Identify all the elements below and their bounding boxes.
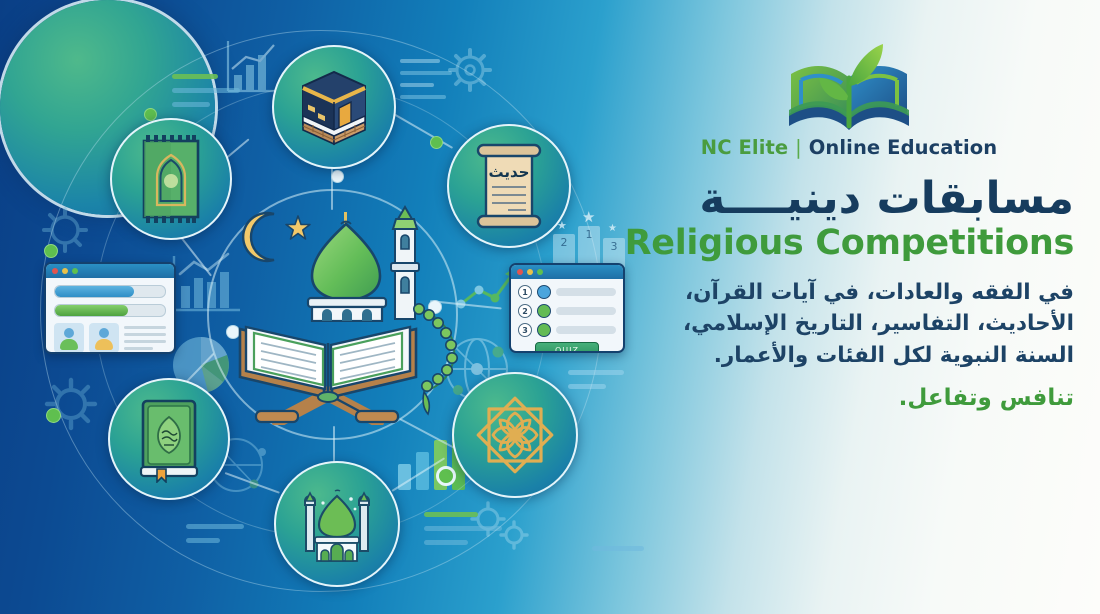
quiz-option-row[interactable]: 1 [518, 285, 616, 299]
quiz-option-number: 3 [518, 323, 532, 337]
connector-node [430, 136, 443, 149]
quiz-option-bullet[interactable] [537, 323, 551, 337]
promotional-banner: حديث [0, 0, 1100, 614]
quiz-window[interactable]: 1 2 3 QUIZ [509, 263, 625, 353]
node-kaaba[interactable] [272, 45, 396, 169]
node-geometric-pattern[interactable] [452, 372, 578, 498]
quiz-option-number: 2 [518, 304, 532, 318]
window-titlebar [511, 265, 623, 279]
node-mosque[interactable] [274, 461, 400, 587]
quiz-option-bullet[interactable] [537, 285, 551, 299]
brand-wordmark: NC Elite | Online Education [701, 136, 997, 159]
window-content: 1 2 3 QUIZ [511, 279, 623, 353]
kaaba-icon [291, 66, 377, 148]
quran-book-icon [131, 395, 207, 483]
star-icon: ★ [582, 210, 595, 225]
brand-name-primary: NC Elite [701, 136, 788, 159]
cta-arabic: تنافس وتفاعل. [624, 385, 1074, 411]
maximize-icon[interactable] [72, 268, 78, 274]
headline-english: Religious Competitions [624, 225, 1074, 262]
progress-bar-blue [54, 285, 166, 298]
window-titlebar [46, 264, 174, 278]
close-icon[interactable] [517, 269, 523, 275]
content-column: NC Elite | Online Education مسابقات ديني… [624, 40, 1074, 411]
star-icon: ★ [557, 220, 567, 231]
quiz-option-text [556, 326, 616, 334]
open-quran-on-rehl-icon [228, 285, 428, 425]
quiz-button[interactable]: QUIZ [535, 342, 599, 353]
progress-bar-green [54, 304, 166, 317]
connector-node [46, 408, 61, 423]
dashboard-window[interactable] [44, 262, 176, 354]
maximize-icon[interactable] [537, 269, 543, 275]
brand-separator: | [795, 136, 802, 159]
close-icon[interactable] [52, 268, 58, 274]
prayer-rug-icon [135, 133, 207, 225]
brand-logo: NC Elite | Online Education [624, 40, 1074, 159]
quiz-option-row[interactable]: 2 [518, 304, 616, 318]
minimize-icon[interactable] [62, 268, 68, 274]
open-book-with-sprout-icon [785, 40, 913, 132]
hadith-scroll-icon: حديث [468, 140, 550, 232]
quiz-option-number: 1 [518, 285, 532, 299]
text-lines-icon [592, 546, 644, 551]
winners-podium: 2 1 3 ★ ★ ★ [553, 210, 633, 266]
connector-node [44, 244, 58, 258]
brand-name-secondary: Online Education [809, 136, 998, 159]
connector-node [436, 466, 456, 486]
quiz-option-bullet[interactable] [537, 304, 551, 318]
body-paragraph-arabic: في الفقه والعادات، في آيات القرآن، الأحا… [624, 277, 1074, 371]
podium-place-1: 1 [578, 226, 600, 268]
window-content [46, 278, 174, 354]
star-icon: ★ [608, 224, 617, 234]
node-prayer-rug[interactable] [110, 118, 232, 240]
quiz-option-row[interactable]: 3 [518, 323, 616, 337]
avatar [54, 323, 84, 353]
quiz-option-text [556, 288, 616, 296]
minimize-icon[interactable] [527, 269, 533, 275]
node-quran-book[interactable] [108, 378, 230, 500]
islamic-geometric-star-icon [469, 389, 561, 481]
mosque-icon [289, 483, 385, 565]
headline-arabic: مسابقات دينيــــة [624, 175, 1074, 223]
connector-node [331, 170, 344, 183]
quiz-option-text [556, 307, 616, 315]
svg-text:حديث: حديث [489, 163, 530, 181]
islamic-education-illustration: حديث [0, 0, 660, 614]
avatar [89, 323, 119, 353]
